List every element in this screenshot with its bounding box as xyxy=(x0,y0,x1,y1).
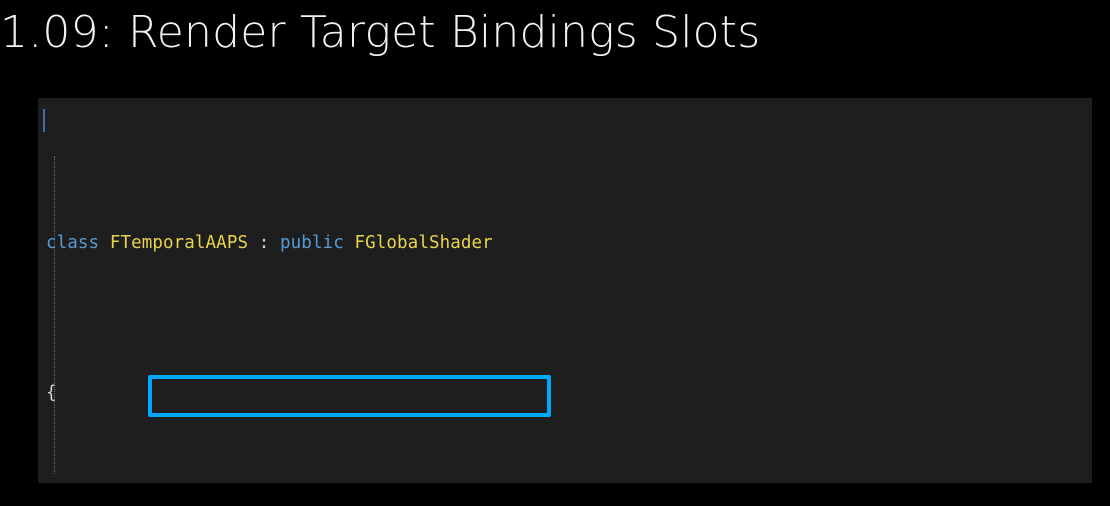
page-title: 1.09: Render Target Bindings Slots xyxy=(0,2,1060,64)
keyword-class: class xyxy=(46,233,99,253)
space xyxy=(344,233,355,253)
colon-token: : xyxy=(259,233,270,253)
code-snippet-panel: class FTemporalAAPS : public FGlobalShad… xyxy=(38,98,1092,483)
type-ftemporalaaps: FTemporalAAPS xyxy=(110,233,248,253)
space xyxy=(248,233,259,253)
space xyxy=(99,233,110,253)
space xyxy=(269,233,280,253)
type-fglobalshader: FGlobalShader xyxy=(355,233,493,253)
keyword-public: public xyxy=(280,233,344,253)
code-line-1: class FTemporalAAPS : public FGlobalShad… xyxy=(38,228,1092,258)
code-line-2: { xyxy=(38,378,1092,408)
slide-screen: 1.09: Render Target Bindings Slots class… xyxy=(0,0,1110,506)
brace-open: { xyxy=(46,383,57,403)
code-listing[interactable]: class FTemporalAAPS : public FGlobalShad… xyxy=(38,98,1092,483)
